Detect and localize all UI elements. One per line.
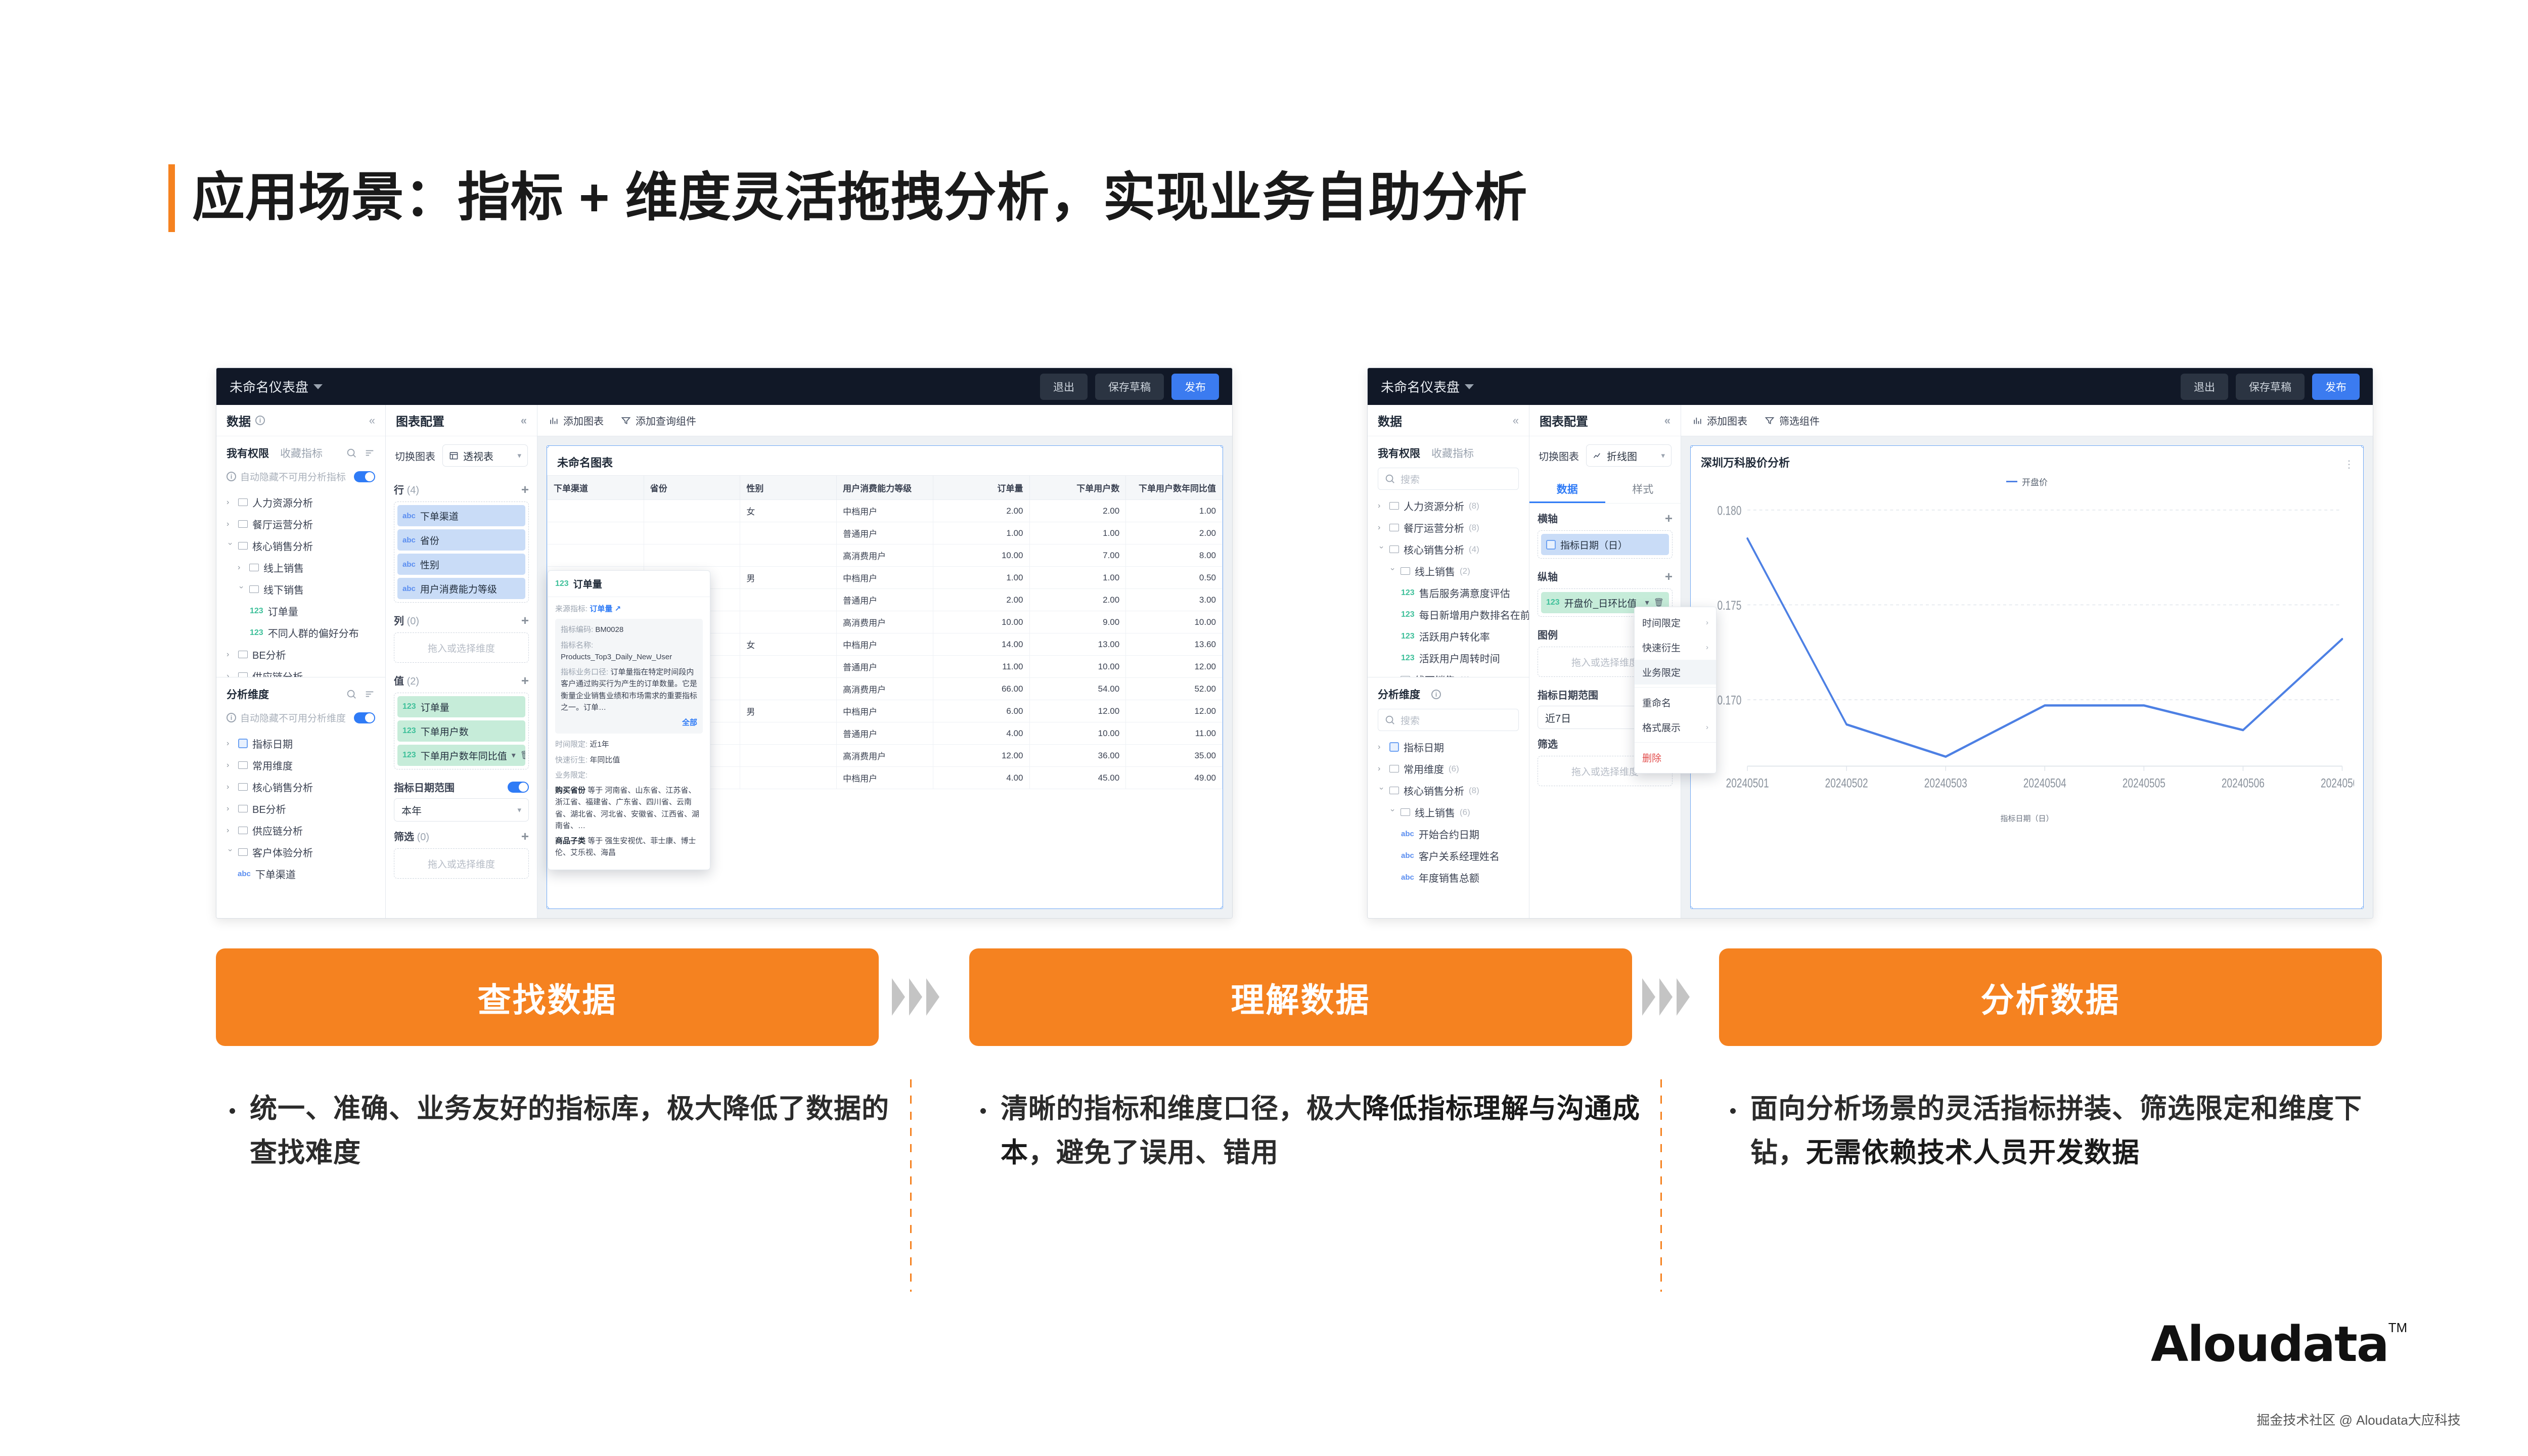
page-title: 应用场景：指标 + 维度灵活拖拽分析，实现业务自助分析 (192, 170, 1528, 225)
value-zone-title: 值 (394, 676, 404, 687)
tree-node[interactable]: abc下单渠道 (216, 863, 385, 885)
metric-search-placeholder: 搜索 (1401, 472, 1420, 486)
menu-item[interactable]: 删除 (1635, 745, 1716, 770)
date-range-row-left: 指标日期范围 (386, 772, 537, 798)
dimension-panel-title-right: 分析维度 (1378, 687, 1420, 702)
metric-tree-right: ›人力资源分析(8)›餐厅运营分析(8)›核心销售分析(4)›线上销售(2)12… (1368, 493, 1529, 677)
dimension-abc-icon: abc (238, 870, 251, 878)
field-pill-label: 下单渠道 (420, 509, 459, 523)
tree-node[interactable]: ›线上销售 (216, 557, 385, 578)
bullet-item-1: 统一、准确、业务友好的指标库，极大降低了数据的查找难度 (222, 1087, 902, 1175)
tree-node[interactable]: ›核心销售分析 (216, 776, 385, 798)
info-icon[interactable]: i (1431, 690, 1441, 699)
dimension-abc-icon: abc (1401, 851, 1414, 860)
resize-handle-sw[interactable] (547, 906, 549, 909)
table-cell-orders: 11.00 (933, 656, 1029, 678)
tree-node-label: 活跃用户周转时间 (1419, 651, 1500, 665)
tooltip-show-all-link[interactable]: 全部 (561, 717, 697, 729)
table-cell-orders: 4.00 (933, 767, 1029, 789)
table-cell-users: 54.00 (1029, 678, 1126, 700)
collapse-panel-icon[interactable]: « (521, 414, 527, 427)
footer-attribution: 掘金技术社区 @ Aloudata大应科技 (2256, 1410, 2460, 1429)
tree-node[interactable]: 123活跃用户周转时间 (1368, 647, 1529, 669)
row-dropzone[interactable]: abc下单渠道abc省份abc性别abc用户消费能力等级 (394, 502, 529, 603)
chart-card-title-left: 未命名图表 (547, 446, 1223, 475)
table-cell-level: 中档用户 (837, 500, 933, 522)
tooltip-name-value: Products_Top3_Daily_New_User (561, 653, 672, 661)
table-cell-users: 12.00 (1029, 700, 1126, 722)
search-icon (1384, 473, 1395, 484)
publish-button[interactable]: 发布 (2312, 374, 2360, 400)
table-cell-gender: 男 (740, 567, 837, 589)
publish-button[interactable]: 发布 (1171, 374, 1219, 400)
banner-label-2: 理解数据 (1231, 973, 1371, 1022)
tree-node[interactable]: ›核心销售分析(4) (1368, 538, 1529, 560)
tooltip-time-value: 近1年 (590, 740, 609, 749)
add-value-field-icon[interactable]: + (521, 674, 529, 687)
app-body-left: 数据 i « 我有权限 收藏指标 i 自动隐藏不可用分析指标 (216, 405, 1232, 918)
chevron-down-icon[interactable]: ▾ (512, 750, 516, 760)
tree-node-label: 核心销售分析 (252, 780, 313, 794)
dimension-abc-icon: abc (402, 560, 416, 569)
field-context-menu[interactable]: 时间限定›快速衍生›业务限定重命名格式展示›删除 (1634, 607, 1717, 773)
add-y-field-icon[interactable]: + (1665, 570, 1673, 583)
tree-node-label: BE分析 (252, 647, 286, 662)
metric-number-icon: 123 (1401, 588, 1415, 598)
x-tick-label: 20240505 (2123, 776, 2165, 790)
app-topbar-right: 未命名仪表盘 退出 保存草稿 发布 (1368, 368, 2373, 405)
tree-node-count: (4) (1469, 544, 1479, 555)
table-cell-level: 普通用户 (837, 656, 933, 678)
table-cell-channel (548, 522, 644, 544)
row-zone-left: 行 (4) + abc下单渠道abc省份abc性别abc用户消费能力等级 (386, 475, 537, 606)
table-cell-orders: 1.00 (933, 522, 1029, 544)
value-zone-left: 值 (2) + 123订单量123下单用户数123下单用户数年同比值▾🗑 (386, 666, 537, 772)
chevron-down-icon (313, 384, 323, 389)
chevron-right-icon (909, 978, 922, 1016)
data-panel-title-right: 数据 (1378, 412, 1402, 429)
tree-node-label: 客户关系经理姓名 (1419, 848, 1500, 863)
add-row-field-icon[interactable]: + (521, 483, 529, 496)
chevron-right-icon[interactable]: › (1377, 546, 1386, 553)
tab-config-style[interactable]: 样式 (1605, 475, 1681, 503)
tree-node[interactable]: 123不同人群的偏好分布 (216, 622, 385, 644)
data-panel-title-left: 数据 (227, 412, 251, 429)
table-cell-users: 1.00 (1029, 522, 1126, 544)
data-panel-header-left: 数据 i « (216, 405, 385, 436)
date-range-label-right: 指标日期范围 (1538, 687, 1598, 702)
tooltip-name-key: 指标名称: (561, 641, 593, 650)
folder-icon (1389, 765, 1399, 772)
collapse-panel-icon[interactable]: « (1513, 414, 1519, 427)
chevron-down-icon[interactable]: ▾ (1645, 598, 1649, 608)
col-dropzone[interactable]: 拖入或选择维度 (394, 632, 529, 663)
tree-node[interactable]: ›常用维度 (216, 754, 385, 776)
tree-node-label: 售后服务满意度评估 (1419, 585, 1510, 600)
dimension-abc-icon: abc (1401, 830, 1414, 838)
table-cell-gender: 女 (740, 633, 837, 656)
menu-item-label: 快速衍生 (1642, 641, 1681, 654)
bar-chart-icon (549, 416, 559, 426)
field-pill[interactable]: abc性别 (397, 554, 525, 575)
line-chart-svg: 0.1700.1750.1802024050120240502202405032… (1700, 491, 2354, 808)
chevron-right-icon[interactable]: › (1377, 787, 1386, 794)
tree-node-label: 开始合约日期 (1419, 827, 1479, 841)
chevron-right-icon[interactable]: › (225, 849, 235, 856)
column-divider-1 (910, 1079, 912, 1292)
delete-icon[interactable]: 🗑 (520, 750, 525, 760)
table-cell-gender (740, 544, 837, 567)
tree-node[interactable]: 123订单量 (216, 600, 385, 622)
add-query-component-button-left[interactable]: 添加查询组件 (621, 413, 696, 428)
value-zone-count: (2) (407, 676, 419, 687)
tree-node[interactable]: ›线下销售(2) (1368, 669, 1529, 677)
chevron-right-icon[interactable]: › (237, 586, 246, 593)
date-range-label-left: 指标日期范围 (394, 780, 455, 794)
tree-node[interactable]: ›核心销售分析(8) (1368, 780, 1529, 801)
tree-node-count: (8) (1469, 523, 1479, 533)
chart-title: 深圳万科股价分析 (1691, 446, 2363, 475)
info-icon: i (227, 472, 236, 481)
tree-node[interactable]: abc开始合约日期 (1368, 823, 1529, 845)
tooltip-biz-rule-2-op: 等于 (588, 837, 603, 845)
delete-icon[interactable]: 🗑 (1654, 598, 1664, 608)
table-cell-yoy: 0.50 (1126, 567, 1223, 589)
field-pill[interactable]: abc下单渠道 (397, 505, 525, 526)
collapse-panel-icon[interactable]: « (1664, 414, 1671, 427)
exit-button[interactable]: 退出 (1040, 374, 1088, 400)
chevron-right-icon (1677, 978, 1690, 1016)
tree-node[interactable]: ›核心销售分析 (216, 535, 385, 557)
tab-favorite-metrics[interactable]: 收藏指标 (1431, 445, 1474, 461)
tree-node-label: 线上销售 (1415, 564, 1455, 578)
date-range-select-left[interactable]: 本年 ▾ (394, 798, 529, 822)
dashboard-title-right[interactable]: 未命名仪表盘 (1381, 377, 1474, 396)
metric-tree-left: ›人力资源分析›餐厅运营分析›核心销售分析›线上销售›线下销售123订单量123… (216, 489, 385, 677)
menu-item-label: 业务限定 (1642, 665, 1681, 679)
x-tick-label: 20240501 (1726, 776, 1769, 790)
table-cell-orders: 12.00 (933, 745, 1029, 767)
data-panel-left: 数据 i « 我有权限 收藏指标 i 自动隐藏不可用分析指标 (216, 405, 386, 918)
pivot-col-header: 下单渠道 (548, 476, 644, 500)
pivot-table-header-row: 下单渠道省份性别用户消费能力等级订单量下单用户数下单用户数年同比值 (548, 476, 1223, 500)
sort-icon[interactable] (364, 689, 375, 700)
menu-item[interactable]: 快速衍生› (1635, 635, 1716, 660)
field-pill-label: 指标日期（日） (1560, 538, 1628, 552)
filter-zone-title: 筛选 (394, 832, 414, 843)
metric-number-icon: 123 (1401, 632, 1415, 641)
tooltip-caliber-key: 指标业务口径: (561, 668, 608, 676)
tree-node[interactable]: ›BE分析 (216, 644, 385, 665)
table-cell-orders: 4.00 (933, 722, 1029, 745)
add-x-field-icon[interactable]: + (1665, 512, 1673, 525)
chevron-right-icon[interactable]: › (238, 563, 245, 572)
tree-node-label: 餐厅运营分析 (1404, 520, 1464, 535)
table-cell-gender (740, 611, 837, 633)
field-pill[interactable]: 123下单用户数 (397, 720, 525, 742)
tab-my-permission[interactable]: 我有权限 (1378, 445, 1420, 461)
field-pill-label: 开盘价_日环比值 (1564, 596, 1637, 610)
tab-config-data[interactable]: 数据 (1529, 475, 1605, 503)
y-tick-label: 0.170 (1718, 693, 1742, 707)
info-icon[interactable]: i (255, 416, 265, 425)
date-range-toggle-left[interactable] (508, 782, 529, 793)
tree-node[interactable]: ›线上销售(2) (1368, 560, 1529, 582)
tree-node[interactable]: ›客户体验分析 (216, 841, 385, 863)
tab-favorite-metrics[interactable]: 收藏指标 (280, 445, 323, 461)
tree-node[interactable]: ›餐厅运营分析 (216, 513, 385, 535)
tree-node[interactable]: ›人力资源分析 (216, 491, 385, 513)
tree-node-label: 核心销售分析 (1404, 783, 1464, 798)
table-cell-yoy: 13.60 (1126, 633, 1223, 656)
screenshot-right-line-chart-builder: 未命名仪表盘 退出 保存草稿 发布 数据 « 我有权限 收藏指标 搜索 ›人力资… (1367, 368, 2373, 919)
field-pill[interactable]: 123下单用户数年同比值▾🗑 (397, 745, 525, 766)
tree-node[interactable]: ›线上销售(6) (1368, 801, 1529, 823)
chevron-right-icon[interactable]: › (227, 650, 234, 659)
chevron-right-icon[interactable]: › (227, 739, 234, 748)
chevron-right-icon[interactable]: › (227, 672, 234, 677)
banner-label-1: 查找数据 (478, 973, 617, 1022)
field-pill[interactable]: 123订单量 (397, 696, 525, 717)
chevron-right-icon (1642, 978, 1655, 1016)
menu-item[interactable]: 格式展示› (1635, 715, 1716, 740)
calendar-icon (1546, 540, 1556, 550)
tree-node[interactable]: 123活跃用户转化率 (1368, 625, 1529, 647)
x-axis-title: 指标日期（日） (1700, 813, 2354, 824)
dashboard-title-left[interactable]: 未命名仪表盘 (230, 377, 323, 396)
dimension-tree-left: ›指标日期›常用维度›核心销售分析›BE分析›供应链分析›客户体验分析abc下单… (216, 731, 385, 918)
pivot-col-header: 用户消费能力等级 (837, 476, 933, 500)
chevron-right-icon[interactable]: › (227, 783, 234, 792)
save-draft-button[interactable]: 保存草稿 (2236, 374, 2305, 400)
filter-component-label-right: 筛选组件 (1779, 413, 1820, 428)
chart-type-select-right[interactable]: 折线图 ▾ (1586, 444, 1672, 467)
config-tabs-right: 数据 样式 (1529, 475, 1681, 504)
tooltip-time-key: 时间限定: (555, 740, 588, 749)
chevron-right-icon[interactable]: › (227, 761, 234, 770)
add-filter-field-icon[interactable]: + (521, 830, 529, 843)
search-icon[interactable] (346, 447, 357, 459)
auto-hide-dimensions-label: 自动隐藏不可用分析维度 (240, 711, 346, 724)
tree-node[interactable]: abc年度销售总额 (1368, 867, 1529, 888)
chevron-right-icon[interactable]: › (1378, 743, 1385, 752)
date-range-value-right: 近7日 (1545, 710, 1571, 725)
table-cell-level: 高消费用户 (837, 544, 933, 567)
data-panel-header-right: 数据 « (1368, 405, 1529, 436)
chevron-right-icon[interactable]: › (1388, 809, 1397, 816)
dimension-abc-icon: abc (1401, 873, 1414, 882)
topbar-actions-left: 退出 保存草稿 发布 (1040, 374, 1219, 400)
tooltip-header: 123 订单量 (548, 571, 710, 597)
filter-dropzone[interactable]: 拖入或选择维度 (394, 848, 529, 879)
tooltip-source-link[interactable]: 订单量 (590, 605, 612, 613)
chevron-right-icon[interactable]: › (1388, 568, 1397, 575)
add-chart-button-right[interactable]: 添加图表 (1692, 413, 1747, 428)
auto-hide-metrics-toggle[interactable] (354, 471, 375, 482)
aloudata-logo: Aloudata TM (2151, 1316, 2407, 1373)
tooltip-derive-key: 快速衍生: (555, 756, 588, 764)
folder-icon (249, 585, 259, 593)
line-chart-icon (1593, 451, 1602, 461)
row-zone-title: 行 (394, 485, 404, 496)
line-chart-container: ⋮ 开盘价 开盘价 0.1700.1750.180202405012024050… (1691, 475, 2363, 909)
chevron-right-icon[interactable]: › (227, 804, 234, 813)
folder-icon (238, 651, 248, 658)
menu-item[interactable]: 业务限定 (1635, 660, 1716, 685)
chevron-right-icon[interactable]: › (1378, 764, 1385, 773)
search-icon[interactable] (346, 689, 357, 700)
metric-number-icon: 123 (402, 726, 416, 736)
table-cell-users: 9.00 (1029, 611, 1126, 633)
tree-node-label: 每日新增用户数排名在前三… (1419, 607, 1529, 622)
table-cell-orders: 10.00 (933, 544, 1029, 567)
tree-node[interactable]: 123售后服务满意度评估 (1368, 582, 1529, 604)
folder-icon (1389, 502, 1399, 510)
chevron-right-icon[interactable]: › (227, 498, 234, 507)
tree-node-label: 线下销售 (263, 582, 304, 597)
pivot-table-icon (449, 451, 459, 461)
table-cell-users: 2.00 (1029, 589, 1126, 611)
tooltip-code-key: 指标编码: (561, 625, 593, 634)
resize-handle-se[interactable] (1221, 906, 1223, 909)
metric-search-input-right[interactable]: 搜索 (1378, 468, 1519, 490)
add-chart-button-left[interactable]: 添加图表 (549, 413, 604, 428)
tab-my-permission[interactable]: 我有权限 (227, 445, 269, 461)
bullet-3-strong2: 人员开发数据 (1973, 1137, 2140, 1168)
save-draft-button[interactable]: 保存草稿 (1095, 374, 1164, 400)
tree-node-label: 下单渠道 (255, 867, 296, 881)
add-chart-label-left: 添加图表 (563, 413, 604, 428)
tree-node-count: (8) (1469, 501, 1479, 511)
table-cell-level: 普通用户 (837, 589, 933, 611)
chevron-separator-2 (1642, 978, 1690, 1016)
chevron-right-icon[interactable]: › (1378, 523, 1385, 532)
calendar-icon (238, 739, 248, 748)
tree-node-label: 供应链分析 (252, 823, 303, 838)
bullet-1-line1: 统一、准确、业务友好的指标库， (250, 1094, 667, 1124)
tree-node[interactable]: ›供应链分析 (216, 665, 385, 677)
bar-chart-icon (1692, 416, 1702, 426)
tree-node[interactable]: ›餐厅运营分析(8) (1368, 517, 1529, 538)
tree-node[interactable]: ›线下销售 (216, 578, 385, 600)
data-panel-right: 数据 « 我有权限 收藏指标 搜索 ›人力资源分析(8)›餐厅运营分析(8)›核… (1368, 405, 1529, 918)
menu-item[interactable]: 时间限定› (1635, 610, 1716, 635)
tree-node[interactable]: ›指标日期 (216, 733, 385, 754)
table-cell-province (644, 500, 740, 522)
pivot-col-header: 省份 (644, 476, 740, 500)
banner-find-data: 查找数据 (216, 948, 879, 1046)
metric-tabs-left: 我有权限 收藏指标 (216, 436, 385, 464)
tree-node[interactable]: abc客户关系经理姓名 (1368, 845, 1529, 867)
pivot-col-header: 下单用户数 (1029, 476, 1126, 500)
tree-node[interactable]: ›供应链分析 (216, 820, 385, 841)
field-pill-label: 订单量 (421, 700, 449, 714)
chart-more-menu-icon[interactable]: ⋮ (2344, 458, 2355, 471)
tree-node-label: 订单量 (268, 604, 298, 618)
field-pill-label: 用户消费能力等级 (420, 582, 497, 596)
metric-number-icon: 123 (402, 702, 416, 711)
sort-icon[interactable] (364, 447, 375, 459)
auto-hide-dimensions-toggle[interactable] (354, 712, 375, 723)
tooltip-biz-rule-1-op: 等于 (588, 786, 603, 795)
table-cell-gender (740, 522, 837, 544)
table-cell-orders: 66.00 (933, 678, 1029, 700)
filter-icon (621, 416, 631, 426)
folder-icon (1389, 787, 1399, 794)
chevron-right-icon[interactable]: › (225, 542, 235, 550)
field-pill[interactable]: abc用户消费能力等级 (397, 578, 525, 599)
info-icon: i (227, 713, 236, 722)
x-tick-label: 20240502 (1825, 776, 1868, 790)
y-tick-label: 0.180 (1718, 504, 1742, 518)
chevron-down-icon (1465, 384, 1474, 389)
bullet-2-line3: ，避免了误用、错用 (1028, 1137, 1279, 1168)
table-cell-gender: 男 (740, 700, 837, 722)
tree-node[interactable]: ›常用维度(6) (1368, 758, 1529, 780)
chart-config-panel-left: 图表配置 « 切换图表 透视表 ▾ 行 (4) + abc下单渠道abc省份ab… (386, 405, 537, 918)
tree-node-label: 不同人群的偏好分布 (268, 625, 359, 640)
tree-node-count: (6) (1449, 764, 1459, 774)
tree-node[interactable]: 123每日新增用户数排名在前三… (1368, 604, 1529, 625)
x-axis-dropzone[interactable]: 指标日期（日） (1538, 530, 1673, 559)
tree-node[interactable]: ›BE分析 (216, 798, 385, 820)
field-pill-label: 省份 (420, 533, 439, 547)
field-pill[interactable]: abc省份 (397, 529, 525, 551)
collapse-panel-icon[interactable]: « (369, 414, 375, 427)
external-link-icon[interactable]: ↗ (615, 605, 621, 613)
folder-icon (1389, 545, 1399, 553)
bullet-3-line1: 面向分析场景的灵活指标拼装、筛 (1750, 1094, 2168, 1124)
table-cell-yoy: 1.00 (1126, 500, 1223, 522)
exit-button[interactable]: 退出 (2181, 374, 2228, 400)
chart-series-line (1747, 538, 2342, 757)
metric-number-icon: 123 (1546, 598, 1560, 607)
tooltip-definition-box: 指标编码: BM0028 指标名称: Products_Top3_Daily_N… (555, 619, 703, 734)
chevron-right-icon[interactable]: › (1378, 502, 1385, 511)
filter-component-button-right[interactable]: 筛选组件 (1765, 413, 1820, 428)
tree-node[interactable]: ›人力资源分析(8) (1368, 495, 1529, 517)
folder-icon (238, 672, 248, 677)
dimension-tree-right: ›指标日期›常用维度(6)›核心销售分析(8)›线上销售(6)abc开始合约日期… (1368, 734, 1529, 918)
dimension-search-input-right[interactable]: 搜索 (1378, 709, 1519, 731)
tree-node-label: 线下销售 (1415, 672, 1455, 677)
add-col-field-icon[interactable]: + (521, 614, 529, 627)
table-cell-users: 10.00 (1029, 656, 1126, 678)
chart-legend: 开盘价 (1700, 475, 2354, 491)
tree-node[interactable]: ›指标日期 (1368, 736, 1529, 758)
col-zone-title: 列 (394, 616, 404, 627)
tooltip-source-row: 来源指标: 订单量 ↗ (555, 603, 703, 615)
slide-title-block: 应用场景：指标 + 维度灵活拖拽分析，实现业务自助分析 (168, 164, 1528, 232)
bullet-2-strong1: 降低 (1362, 1094, 1418, 1124)
menu-item[interactable]: 重命名 (1635, 690, 1716, 715)
bullet-column-2: 清晰的指标和维度口径，极大降低指标理解与沟通成本，避免了误用、错用 (973, 1087, 1653, 1175)
table-cell-orders: 2.00 (933, 589, 1029, 611)
metric-tooltip-popup: 123 订单量 来源指标: 订单量 ↗ 指标编码: BM0028 指标名称: P… (548, 570, 710, 870)
field-pill[interactable]: 指标日期（日） (1541, 534, 1669, 555)
legend-color-swatch (2006, 481, 2017, 482)
chart-card-right[interactable]: 深圳万科股价分析 ⋮ 开盘价 开盘价 0.1700.1750.180202405… (1690, 445, 2364, 909)
chevron-right-icon[interactable]: › (227, 520, 234, 529)
chevron-right-icon[interactable]: › (227, 826, 234, 835)
tooltip-code-value: BM0028 (595, 625, 623, 634)
tooltip-biz-rule-2-label: 商品子类 (555, 837, 585, 845)
chart-type-select-left[interactable]: 透视表 ▾ (442, 444, 528, 467)
value-dropzone[interactable]: 123订单量123下单用户数123下单用户数年同比值▾🗑 (394, 693, 529, 769)
app-body-right: 数据 « 我有权限 收藏指标 搜索 ›人力资源分析(8)›餐厅运营分析(8)›核… (1368, 405, 2373, 918)
table-cell-level: 中档用户 (837, 767, 933, 789)
table-cell-yoy: 10.00 (1126, 611, 1223, 633)
